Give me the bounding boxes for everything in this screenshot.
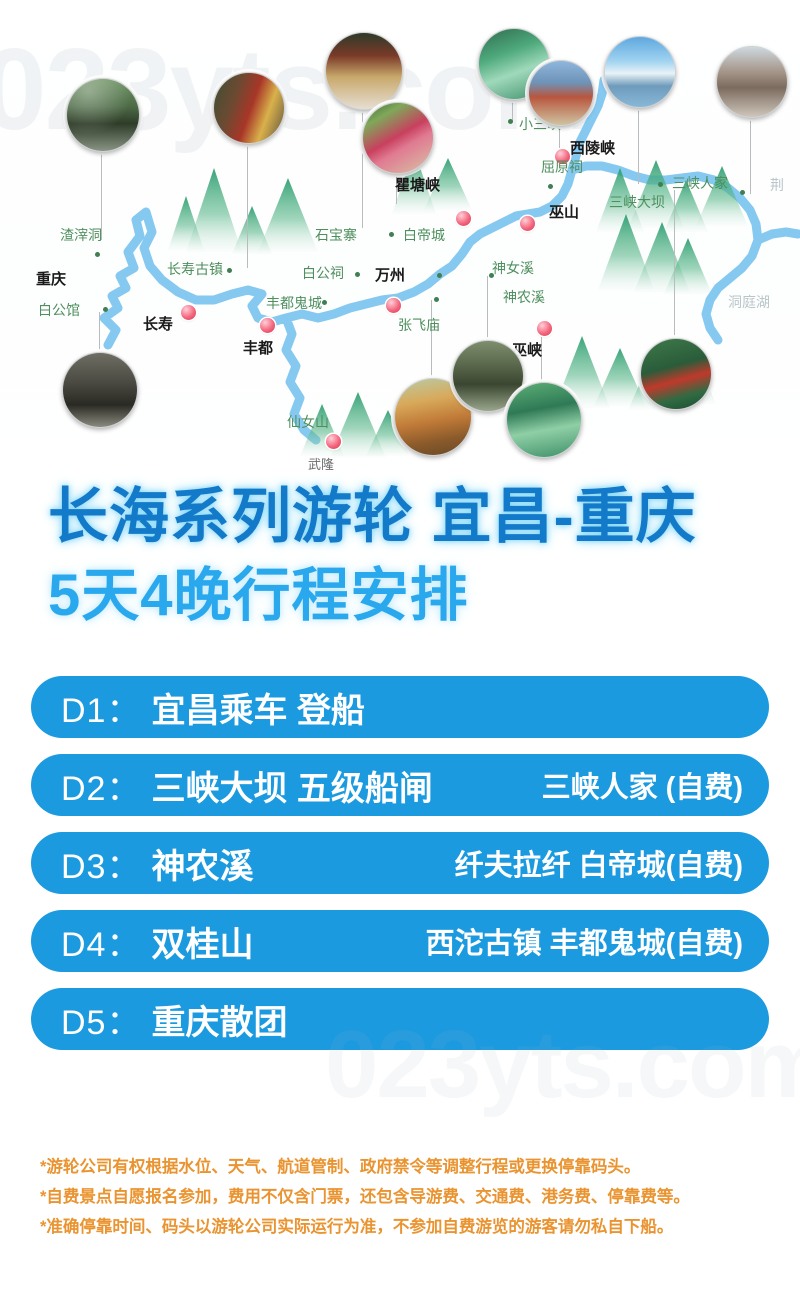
map-label-baigongci: 白公祠 — [302, 266, 344, 280]
map-label-shibaozhai: 石宝寨 — [315, 228, 357, 242]
page-title-line1: 长海系列游轮 宜昌-重庆 — [48, 468, 697, 555]
map-label-jingzhou: 荆 — [770, 178, 784, 192]
changshou-old-town-photo — [213, 72, 285, 144]
map-city-marker — [537, 321, 552, 336]
map-label-wanzhou: 万州 — [375, 268, 405, 283]
map-label-chongqing: 重庆 — [36, 272, 66, 287]
connector-line — [431, 300, 432, 380]
map-label-baidicheng: 白帝城 — [403, 228, 445, 242]
map-dot — [389, 232, 394, 237]
map-dot — [508, 119, 513, 124]
day-activities-d2: 三峡大坝 五级船闸 — [151, 761, 432, 810]
map-dot — [103, 307, 108, 312]
sanxia-dam-photo — [604, 36, 676, 108]
day-optional-d4: 西沱古镇 丰都鬼城(自费) — [426, 920, 743, 962]
map-dot — [95, 252, 100, 257]
map-dot — [355, 272, 360, 277]
day-number-d3: D3： — [61, 839, 141, 888]
connector-line — [99, 312, 100, 354]
disclaimer-block: *游轮公司有权根据水位、天气、航道管制、政府禁令等调整行程或更换停靠码头。 *自… — [40, 1152, 784, 1242]
disclaimer-line-2: *自费景点自愿报名参加，费用不仅含门票，还包含导游费、交通费、港务费、停靠费等。 — [40, 1182, 784, 1212]
map-city-marker — [326, 434, 341, 449]
shennvxi-photo — [528, 60, 594, 126]
map-city-marker — [520, 216, 535, 231]
itinerary-row-d4[interactable]: D4： 双桂山 西沱古镇 丰都鬼城(自费) — [31, 910, 769, 972]
map-city-marker — [260, 318, 275, 333]
itinerary-row-d1[interactable]: D1： 宜昌乘车 登船 — [31, 676, 769, 738]
connector-line — [247, 142, 248, 268]
disclaimer-line-1: *游轮公司有权根据水位、天气、航道管制、政府禁令等调整行程或更换停靠码头。 — [40, 1152, 784, 1182]
page-title-line2: 5天4晚行程安排 — [48, 548, 469, 632]
day-optional-d2: 三峡人家 (自费) — [542, 764, 743, 806]
map-label-wushan: 巫山 — [549, 205, 579, 220]
map-label-sanxia-dam: 三峡大坝 — [609, 195, 665, 209]
day-activities-d1: 宜昌乘车 登船 — [151, 683, 364, 732]
sanxia-renjia-photo — [640, 338, 712, 410]
connector-line — [750, 116, 751, 194]
day-number-d1: D1： — [61, 683, 141, 732]
itinerary-list: D1： 宜昌乘车 登船 D2： 三峡大坝 五级船闸 三峡人家 (自费) D3： … — [0, 676, 800, 1066]
map-dot — [322, 300, 327, 305]
map-label-shennvxi: 神女溪 — [492, 261, 534, 275]
map-city-marker — [181, 305, 196, 320]
map-dot — [434, 297, 439, 302]
map-label-sanxia-renjia: 三峡人家 — [672, 176, 728, 190]
map-label-quyuanci: 屈原祠 — [541, 160, 583, 174]
day-activities-d3: 神农溪 — [151, 839, 253, 888]
shibaozhai-photo — [325, 32, 403, 110]
connector-line — [512, 98, 513, 122]
zhazidong-photo — [66, 78, 140, 152]
map-illustration: 023yts.com — [0, 0, 800, 470]
disclaimer-line-3: *准确停靠时间、码头以游轮公司实际运行为准，不参加自费游览的游客请勿私自下船。 — [40, 1212, 784, 1242]
fengdu-ghost-city-photo — [362, 102, 434, 174]
map-label-dongting-lake: 洞庭湖 — [728, 295, 770, 309]
itinerary-row-d2[interactable]: D2： 三峡大坝 五级船闸 三峡人家 (自费) — [31, 754, 769, 816]
headline-block: 长海系列游轮 宜昌-重庆 5天4晚行程安排 — [0, 466, 800, 636]
day-number-d5: D5： — [61, 995, 141, 1044]
map-label-zhazidong: 渣滓洞 — [60, 228, 102, 242]
shennongxi-photo — [506, 382, 582, 458]
map-label-fengdu-ghost-city: 丰都鬼城 — [266, 296, 322, 310]
map-city-marker — [386, 298, 401, 313]
map-label-changshou-old-town: 长寿古镇 — [167, 262, 223, 276]
map-label-changshou: 长寿 — [143, 317, 173, 332]
day-activities-d5: 重庆散团 — [151, 995, 287, 1044]
watermark-bottom: 023yts.com — [325, 1010, 800, 1120]
map-label-xiannvshan: 仙女山 — [287, 415, 329, 429]
day-optional-d3: 纤夫拉纤 白帝城(自费) — [455, 842, 743, 884]
connector-line — [674, 190, 675, 340]
map-dot — [548, 184, 553, 189]
map-label-zhangfeimiao: 张飞庙 — [398, 318, 440, 332]
day-activities-d4: 双桂山 — [151, 917, 253, 966]
map-dot — [658, 182, 663, 187]
itinerary-row-d3[interactable]: D3： 神农溪 纤夫拉纤 白帝城(自费) — [31, 832, 769, 894]
map-dot — [740, 190, 745, 195]
day-number-d4: D4： — [61, 917, 141, 966]
map-dot — [437, 273, 442, 278]
map-label-xilingxia: 西陵峡 — [570, 141, 615, 156]
map-city-marker — [456, 211, 471, 226]
day-number-d2: D2： — [61, 761, 141, 810]
jingzhou-photo — [716, 46, 788, 118]
baigongguan-photo — [62, 352, 138, 428]
connector-line — [638, 106, 639, 184]
map-label-baigongguan: 白公馆 — [38, 303, 80, 317]
connector-line — [487, 276, 488, 342]
map-label-qutangxia: 瞿塘峡 — [395, 178, 440, 193]
map-dot — [227, 268, 232, 273]
map-label-shennongxi: 神农溪 — [503, 290, 545, 304]
map-label-fengdu: 丰都 — [243, 341, 273, 356]
